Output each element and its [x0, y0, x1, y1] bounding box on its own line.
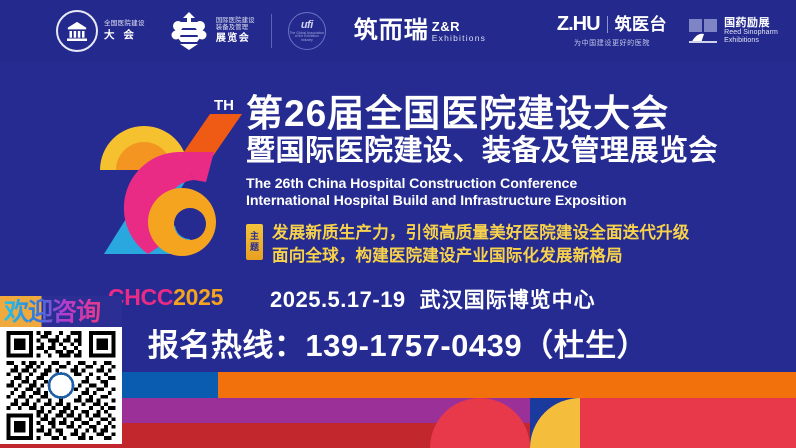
- theme-block: 主 题 发展新质生产力，引领高质量美好医院建设全面迭代升级 面向全球，构建医院建…: [246, 222, 690, 268]
- ufi-sub: The Global Association of the Exhibition…: [289, 32, 325, 42]
- header-left-logos: 全国医院建设 大 会: [56, 9, 486, 53]
- theme-line2: 面向全球，构建医院建设产业国际化发展新格局: [272, 245, 690, 268]
- conference-seal-text: 全国医院建设 大 会: [104, 21, 145, 42]
- reed-chinese-name: 国药励展: [724, 17, 778, 30]
- conference-seal-logo: 全国医院建设 大 会: [56, 10, 145, 52]
- zr-en-bottom: Exhibitions: [432, 34, 486, 43]
- ufi-globe-icon: ufi The Global Association of the Exhibi…: [288, 12, 326, 50]
- english-title-block: The 26th China Hospital Construction Con…: [246, 176, 786, 211]
- header-right-logos: Z.HU 筑医台 为中国建设更好的医院 国药励展 R: [557, 0, 778, 62]
- qr-code-icon[interactable]: [0, 327, 122, 444]
- zhu-tagline: 为中国建设更好的医院: [557, 38, 667, 48]
- english-title-line2: International Hospital Build and Infrast…: [246, 193, 786, 210]
- expo-mark-line2: 装备及管理: [216, 24, 255, 31]
- event-datetime-venue: 2025.5.17-19 武汉国际博览中心: [270, 284, 596, 314]
- title-block: 第26届全国医院建设大会 暨国际医院建设、装备及管理展览会 The 26th C…: [246, 94, 786, 211]
- hospital-building-seal-icon: [56, 10, 98, 52]
- reed-en-line1: Reed Sinopharm: [724, 29, 778, 37]
- page-subtitle: 暨国际医院建设、装备及管理展览会: [246, 135, 786, 168]
- zr-en-top: Z&R: [432, 20, 486, 34]
- theme-badge-char1: 主: [250, 231, 259, 242]
- zr-chinese-name: 筑而瑞: [354, 19, 429, 43]
- reed-en-line2: Exhibitions: [724, 37, 778, 45]
- reed-sinopharm-logo: 国药励展 Reed Sinopharm Exhibitions: [689, 17, 778, 46]
- svg-text:TH: TH: [214, 97, 234, 114]
- conference-seal-line2: 大 会: [104, 30, 145, 41]
- qr-heading-banner: 欢迎咨询: [0, 296, 122, 330]
- theme-badge: 主 题: [246, 224, 263, 260]
- expo-mark-text: 国际医院建设 装备及管理 展览会: [216, 17, 255, 44]
- zhu-divider: [607, 16, 608, 33]
- header-divider: [271, 14, 272, 48]
- zhu-chinese-name: 筑医台: [615, 16, 668, 33]
- snowflake-cross-icon: [167, 9, 211, 53]
- zr-exhibitions-logo: 筑而瑞 Z&R Exhibitions: [354, 19, 486, 43]
- reed-sinopharm-icon: [689, 17, 719, 45]
- event-date: 2025.5.17-19: [270, 287, 406, 313]
- page-title: 第26届全国医院建设大会: [246, 94, 786, 134]
- ufi-label: ufi: [289, 20, 325, 31]
- english-title-line1: The 26th China Hospital Construction Con…: [246, 176, 786, 193]
- footer-coral-block: [555, 398, 796, 448]
- chcc-wordmark-b: 2025: [173, 284, 223, 310]
- zhu-platform-logo: Z.HU 筑医台 为中国建设更好的医院: [557, 14, 667, 48]
- theme-badge-char2: 题: [250, 242, 259, 253]
- conference-seal-line1: 全国医院建设: [104, 21, 145, 28]
- qr-heading-text: 欢迎咨询: [4, 299, 100, 327]
- event-poster: 全国医院建设 大 会: [0, 0, 796, 448]
- zhu-wordmark: Z.HU: [557, 14, 600, 34]
- event-venue: 武汉国际博览中心: [420, 284, 596, 314]
- expo-mark-line3: 展览会: [216, 33, 255, 44]
- header-bar: 全国医院建设 大 会: [0, 0, 796, 62]
- chcc-26-logo-icon: TH: [86, 84, 246, 264]
- theme-line1: 发展新质生产力，引领高质量美好医院建设全面迭代升级: [272, 222, 690, 245]
- qr-consult-block[interactable]: 欢迎咨询: [0, 296, 122, 448]
